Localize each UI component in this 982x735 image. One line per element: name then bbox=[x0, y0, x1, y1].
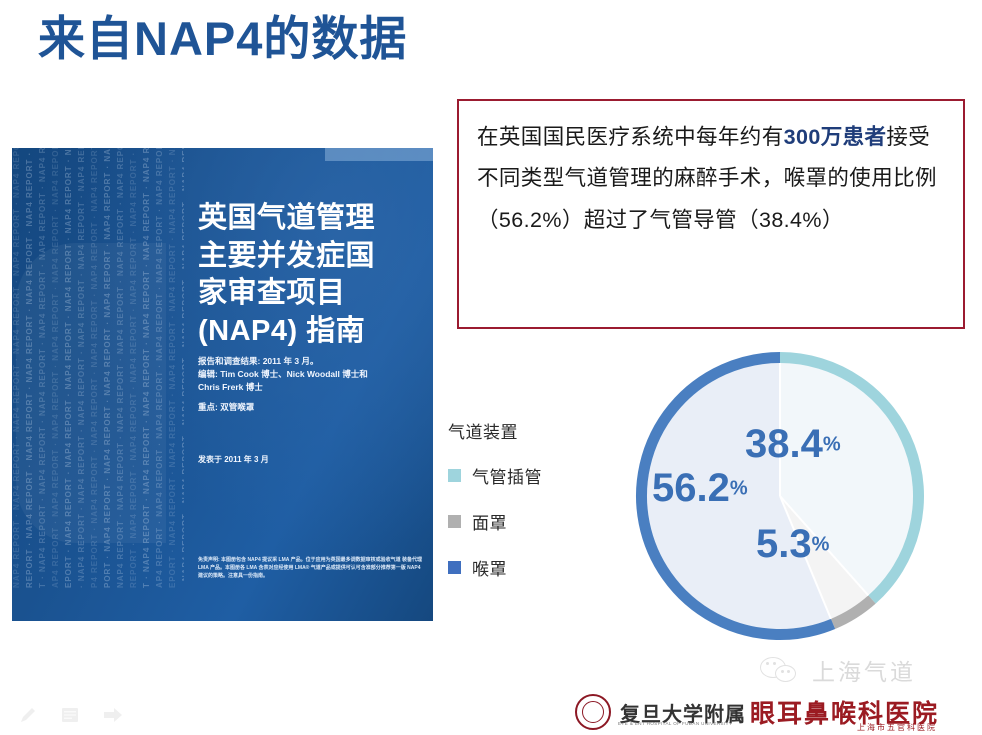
arrow-right-icon[interactable] bbox=[102, 706, 124, 729]
nap4-report-cover-image: NAP4 REPORT · NAP4 REPORT · NAP4 REPORT … bbox=[12, 148, 433, 621]
wechat-dot bbox=[766, 662, 769, 665]
cover-content: 英国气道管理 主要并发症国 家审查项目 (NAP4) 指南 报告和调查结果: 2… bbox=[198, 148, 423, 621]
cover-title-line: 英国气道管理 bbox=[198, 200, 375, 238]
legend-title: 气道装置 bbox=[448, 418, 598, 443]
fudan-seal-icon bbox=[575, 694, 611, 730]
cover-texture-line: AP4 REPORT · NAP4 REPORT · NAP4 REPORT ·… bbox=[155, 148, 164, 588]
pie-value-number: 38.4 bbox=[745, 422, 823, 466]
slide-canvas: 来自NAP4的数据 NAP4 REPORT · NAP4 REPORT · NA… bbox=[0, 0, 982, 735]
pie-value-mask: 5.3% bbox=[756, 524, 829, 564]
notes-icon[interactable] bbox=[60, 706, 80, 729]
watermark-label: 上海气道 bbox=[812, 653, 916, 687]
legend-item-intubation[interactable]: 气管插管 bbox=[448, 463, 598, 488]
cover-meta-line: Chris Frerk 博士 bbox=[198, 381, 368, 394]
cover-metadata: 报告和调查结果: 2011 年 3 月。 编辑: Tim Cook 博士、Nic… bbox=[198, 355, 368, 395]
cover-texture-line: REPORT · NAP4 REPORT · NAP4 REPORT · NAP… bbox=[25, 148, 34, 588]
legend-label: 气管插管 bbox=[472, 463, 542, 488]
cover-meta-line: 报告和调查结果: 2011 年 3 月。 bbox=[198, 355, 368, 368]
percent-sign: % bbox=[823, 434, 841, 456]
cover-texture-line: NAP4 REPORT · NAP4 REPORT · NAP4 REPORT … bbox=[116, 148, 125, 588]
cover-texture-line: · NAP4 REPORT · NAP4 REPORT · NAP4 REPOR… bbox=[181, 148, 184, 588]
cover-title: 英国气道管理 主要并发症国 家审查项目 (NAP4) 指南 bbox=[198, 200, 375, 351]
callout-part: 在英国国民医疗系统中每年约有 bbox=[477, 125, 784, 149]
cover-texture-line: AP4 REPORT · NAP4 REPORT · NAP4 REPORT ·… bbox=[51, 148, 60, 588]
chart-legend: 气道装置 气管插管 面罩 喉罩 bbox=[448, 418, 598, 601]
callout-highlight-number: 300 bbox=[784, 125, 821, 149]
pie-value-lma: 56.2% bbox=[652, 468, 748, 508]
wechat-icon bbox=[760, 655, 802, 685]
callout-box: 在英国国民医疗系统中每年约有300万患者接受不同类型气道管理的麻醉手术，喉罩的使… bbox=[457, 99, 965, 329]
legend-swatch-icon bbox=[448, 515, 461, 528]
legend-swatch-icon bbox=[448, 561, 461, 574]
seal-inner-ring bbox=[582, 701, 604, 723]
pie-graphic: 38.4% 5.3% 56.2% bbox=[630, 346, 930, 646]
wechat-watermark: 上海气道 bbox=[760, 653, 916, 687]
cover-title-line: 家审查项目 bbox=[198, 275, 375, 313]
cover-texture-line: EPORT · NAP4 REPORT · NAP4 REPORT · NAP4… bbox=[64, 148, 73, 588]
wechat-dot bbox=[787, 670, 790, 673]
cover-texture-line: NAP4 REPORT · NAP4 REPORT · NAP4 REPORT … bbox=[12, 148, 21, 588]
wechat-dot bbox=[773, 662, 776, 665]
legend-label: 面罩 bbox=[472, 509, 507, 534]
callout-highlight-unit: 万患者 bbox=[821, 125, 887, 149]
cover-title-line: (NAP4) 指南 bbox=[198, 313, 375, 351]
cover-texture-line: REPORT · NAP4 REPORT · NAP4 REPORT · NAP… bbox=[129, 148, 138, 588]
university-name-en: EYE & ENT HOSPITAL OF FUDAN UNIVERSITY bbox=[618, 721, 732, 726]
wechat-dot bbox=[781, 670, 784, 673]
cover-texture-line: T · NAP4 REPORT · NAP4 REPORT · NAP4 REP… bbox=[38, 148, 47, 588]
cover-meta-line: 编辑: Tim Cook 博士、Nick Woodall 博士和 bbox=[198, 368, 368, 381]
legend-item-lma[interactable]: 喉罩 bbox=[448, 555, 598, 580]
pie-value-number: 5.3 bbox=[756, 522, 812, 566]
cover-published-line: 发表于 2011 年 3 月 bbox=[198, 454, 269, 465]
cover-texture-line: P4 REPORT · NAP4 REPORT · NAP4 REPORT · … bbox=[90, 148, 99, 588]
legend-swatch-icon bbox=[448, 469, 461, 482]
cover-texture-line: EPORT · NAP4 REPORT · NAP4 REPORT · NAP4… bbox=[168, 148, 177, 588]
callout-text: 在英国国民医疗系统中每年约有300万患者接受不同类型气道管理的麻醉手术，喉罩的使… bbox=[477, 117, 949, 241]
airway-device-pie-chart: 气道装置 气管插管 面罩 喉罩 38.4% 5.3% bbox=[440, 338, 968, 658]
cover-disclaimer: 免责声明: 本图册包含 NAP4 提议采 LMA 产品。位于应用为英国最多调数据… bbox=[198, 557, 424, 580]
legend-label: 喉罩 bbox=[472, 555, 507, 580]
hospital-block: 眼耳鼻喉科医院 上海市五官科医院 bbox=[750, 694, 939, 730]
cover-texture-line: T · NAP4 REPORT · NAP4 REPORT · NAP4 REP… bbox=[142, 148, 151, 588]
pie-value-intubation: 38.4% bbox=[745, 424, 841, 464]
wechat-bubble-small bbox=[775, 665, 796, 682]
pie-value-number: 56.2 bbox=[652, 466, 730, 510]
cover-focus-line: 重点: 双管喉罩 bbox=[198, 401, 254, 413]
percent-sign: % bbox=[730, 478, 748, 500]
hospital-subname: 上海市五官科医院 bbox=[857, 722, 937, 733]
legend-item-mask[interactable]: 面罩 bbox=[448, 509, 598, 534]
cover-texture-line: PORT · NAP4 REPORT · NAP4 REPORT · NAP4 … bbox=[103, 148, 112, 588]
pencil-icon[interactable] bbox=[18, 705, 38, 730]
cover-text-texture: NAP4 REPORT · NAP4 REPORT · NAP4 REPORT … bbox=[12, 148, 184, 621]
slide-tool-icons bbox=[18, 705, 124, 730]
percent-sign: % bbox=[812, 534, 830, 556]
cover-texture-line: · NAP4 REPORT · NAP4 REPORT · NAP4 REPOR… bbox=[77, 148, 86, 588]
cover-title-line: 主要并发症国 bbox=[198, 238, 375, 276]
page-title: 来自NAP4的数据 bbox=[38, 13, 407, 65]
footer-branding: 复旦大学附属 EYE & ENT HOSPITAL OF FUDAN UNIVE… bbox=[575, 693, 939, 731]
